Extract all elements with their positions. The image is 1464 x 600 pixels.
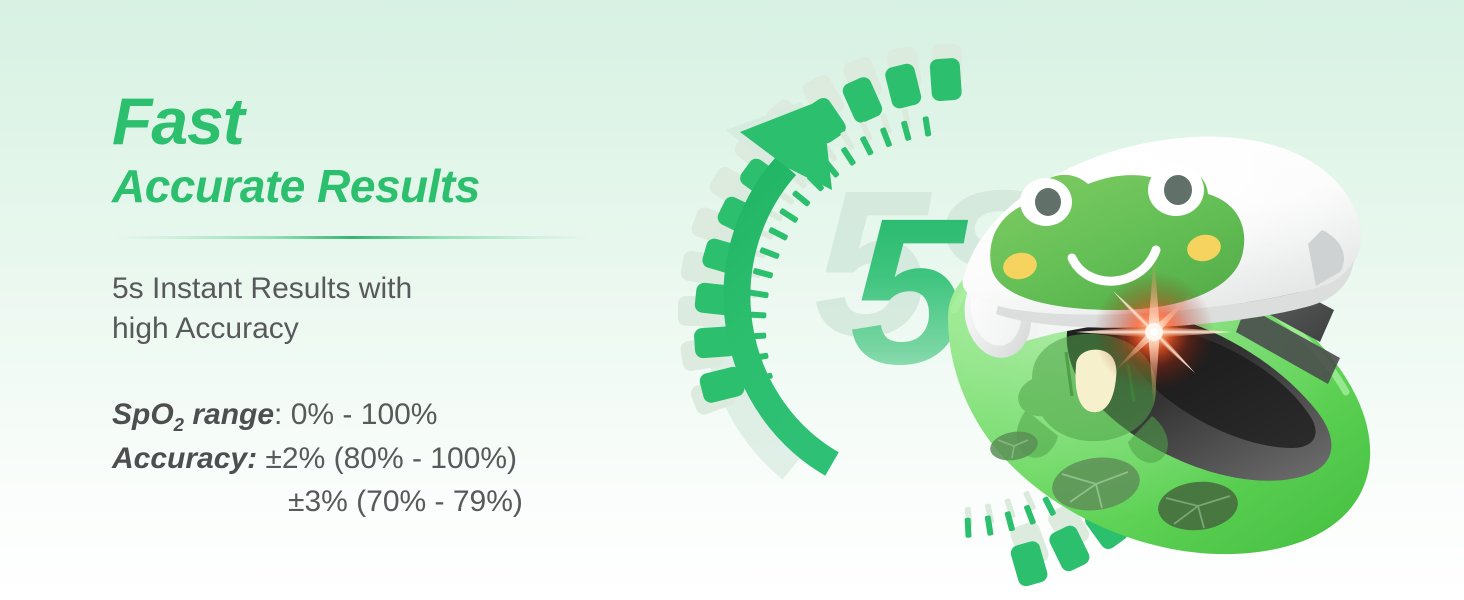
spec-label-accuracy: Accuracy: (112, 442, 257, 475)
spec-value-spo2: 0% - 100% (291, 398, 438, 431)
product-banner: Fast Accurate Results 5s Instant Results… (0, 0, 1464, 600)
spec-value-accuracy-secondary: ±3% (70% - 79%) (288, 485, 523, 518)
spo2-subscript: 2 (174, 414, 184, 435)
spec-value-accuracy: ±2% (80% - 100%) (265, 442, 517, 475)
graphic-stage: 5S 5S (636, 0, 1464, 600)
frog-face-decal (990, 164, 1244, 310)
spec-separator-spo2: : (274, 398, 282, 431)
spec-label-spo2: SpO2 range (112, 398, 274, 431)
pulse-oximeter-device (936, 110, 1406, 570)
divider-rule (112, 236, 592, 239)
